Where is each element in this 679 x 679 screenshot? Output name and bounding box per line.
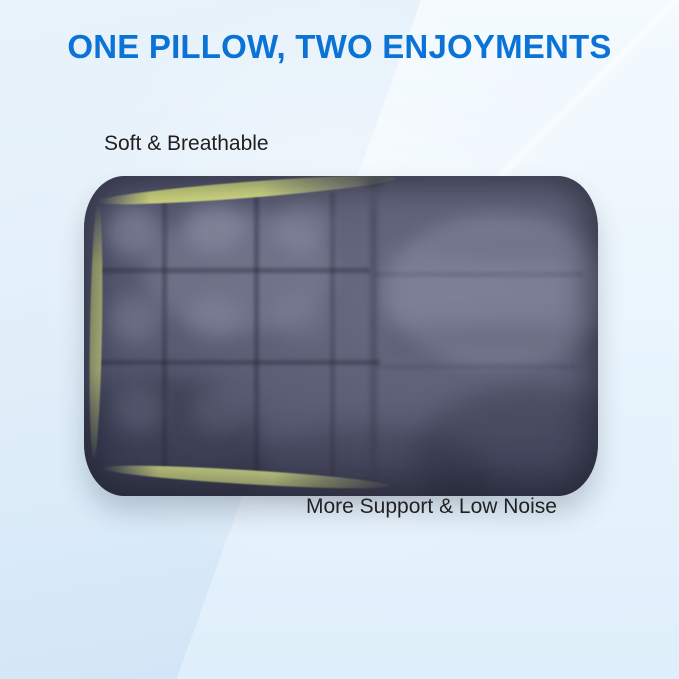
pillow-body	[84, 176, 598, 496]
product-banner: ONE PILLOW, TWO ENJOYMENTS Soft & Breath…	[0, 0, 679, 679]
caption-soft-breathable: Soft & Breathable	[104, 132, 269, 156]
pillow-edge-shading	[84, 176, 598, 496]
headline: ONE PILLOW, TWO ENJOYMENTS	[0, 28, 679, 66]
pillow-image	[84, 176, 598, 496]
